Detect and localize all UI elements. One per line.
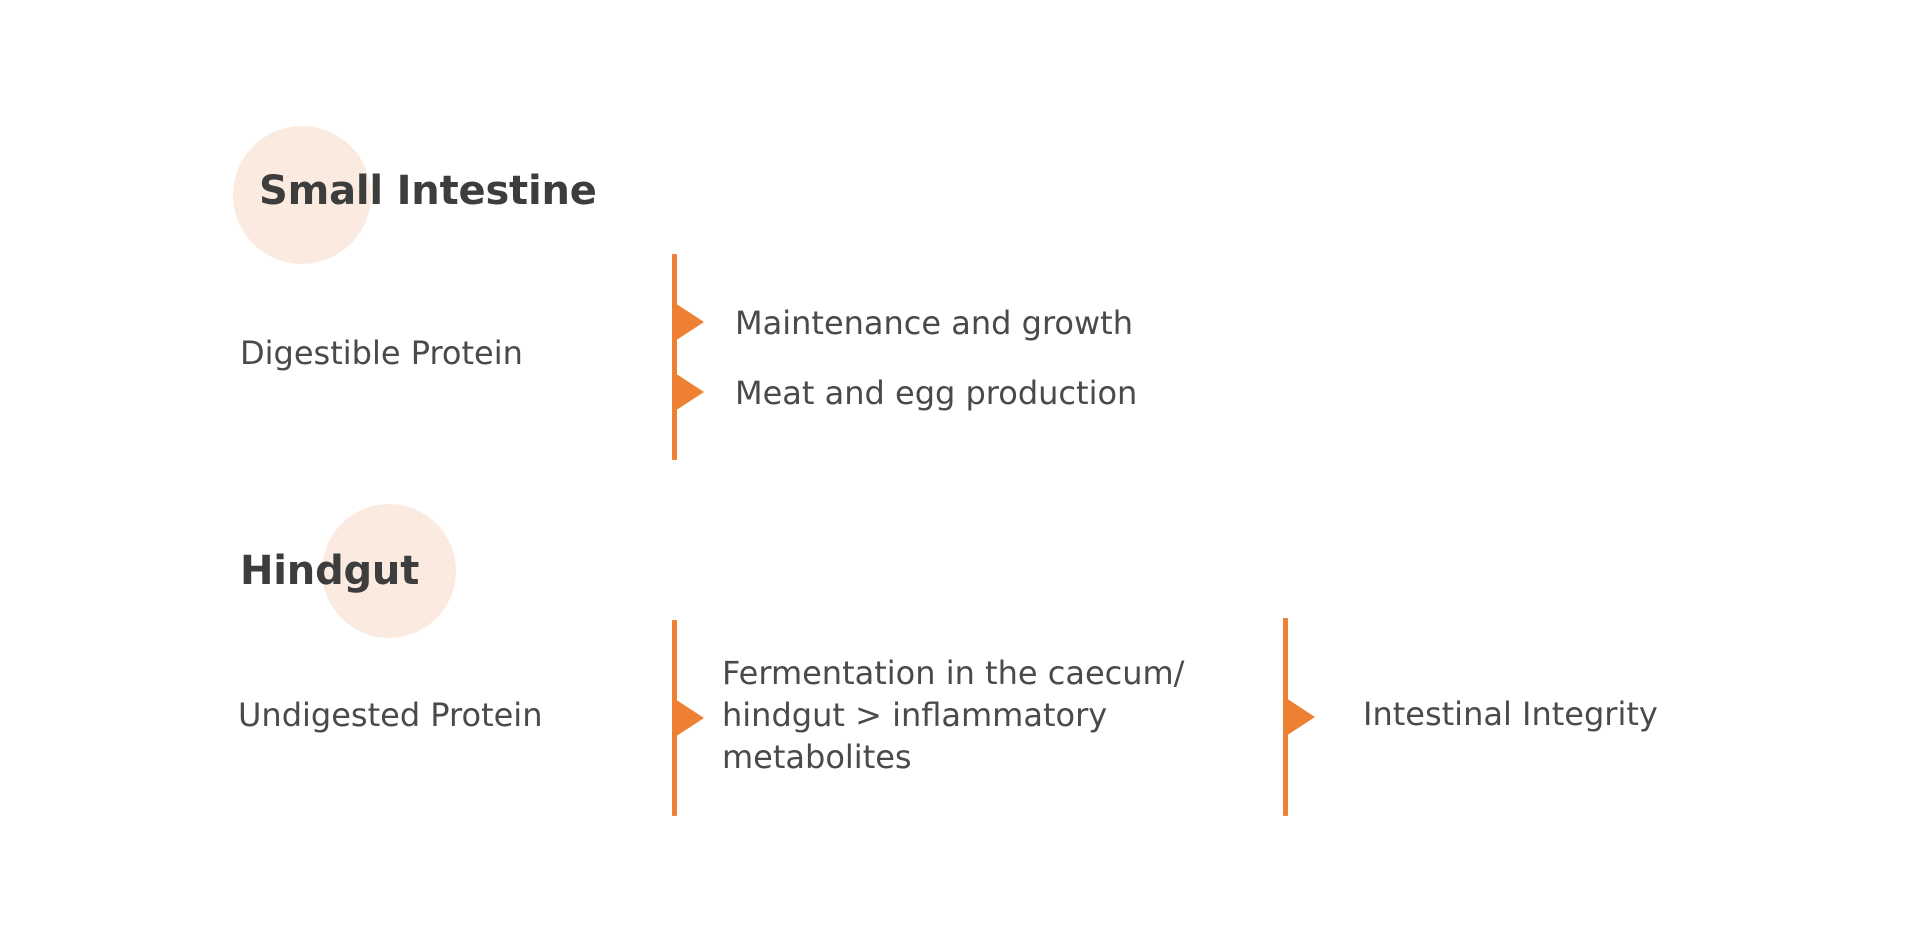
diagram-canvas: Small Intestine Digestible Protein Maint… [0,0,1920,930]
triangle-right-icon-si-outcome-2 [675,373,704,411]
substrate-label-digestible-protein: Digestible Protein [240,334,523,372]
outcome-text-fermentation: Fermentation in the caecum/ hindgut > in… [722,652,1282,779]
outcome-text-maintenance-and-growth: Maintenance and growth [735,302,1133,344]
triangle-right-icon-hindgut-downstream [1286,698,1315,736]
outcome-text-intestinal-integrity: Intestinal Integrity [1363,693,1658,735]
vertical-connector-line-small-intestine [672,254,677,460]
triangle-right-icon-hindgut-outcome-1 [675,699,704,737]
section-heading-small-intestine: Small Intestine [259,168,597,214]
outcome-text-meat-and-egg-production: Meat and egg production [735,372,1137,414]
section-heading-hindgut: Hindgut [240,548,419,594]
triangle-right-icon-si-outcome-1 [675,303,704,341]
substrate-label-undigested-protein: Undigested Protein [238,696,542,734]
